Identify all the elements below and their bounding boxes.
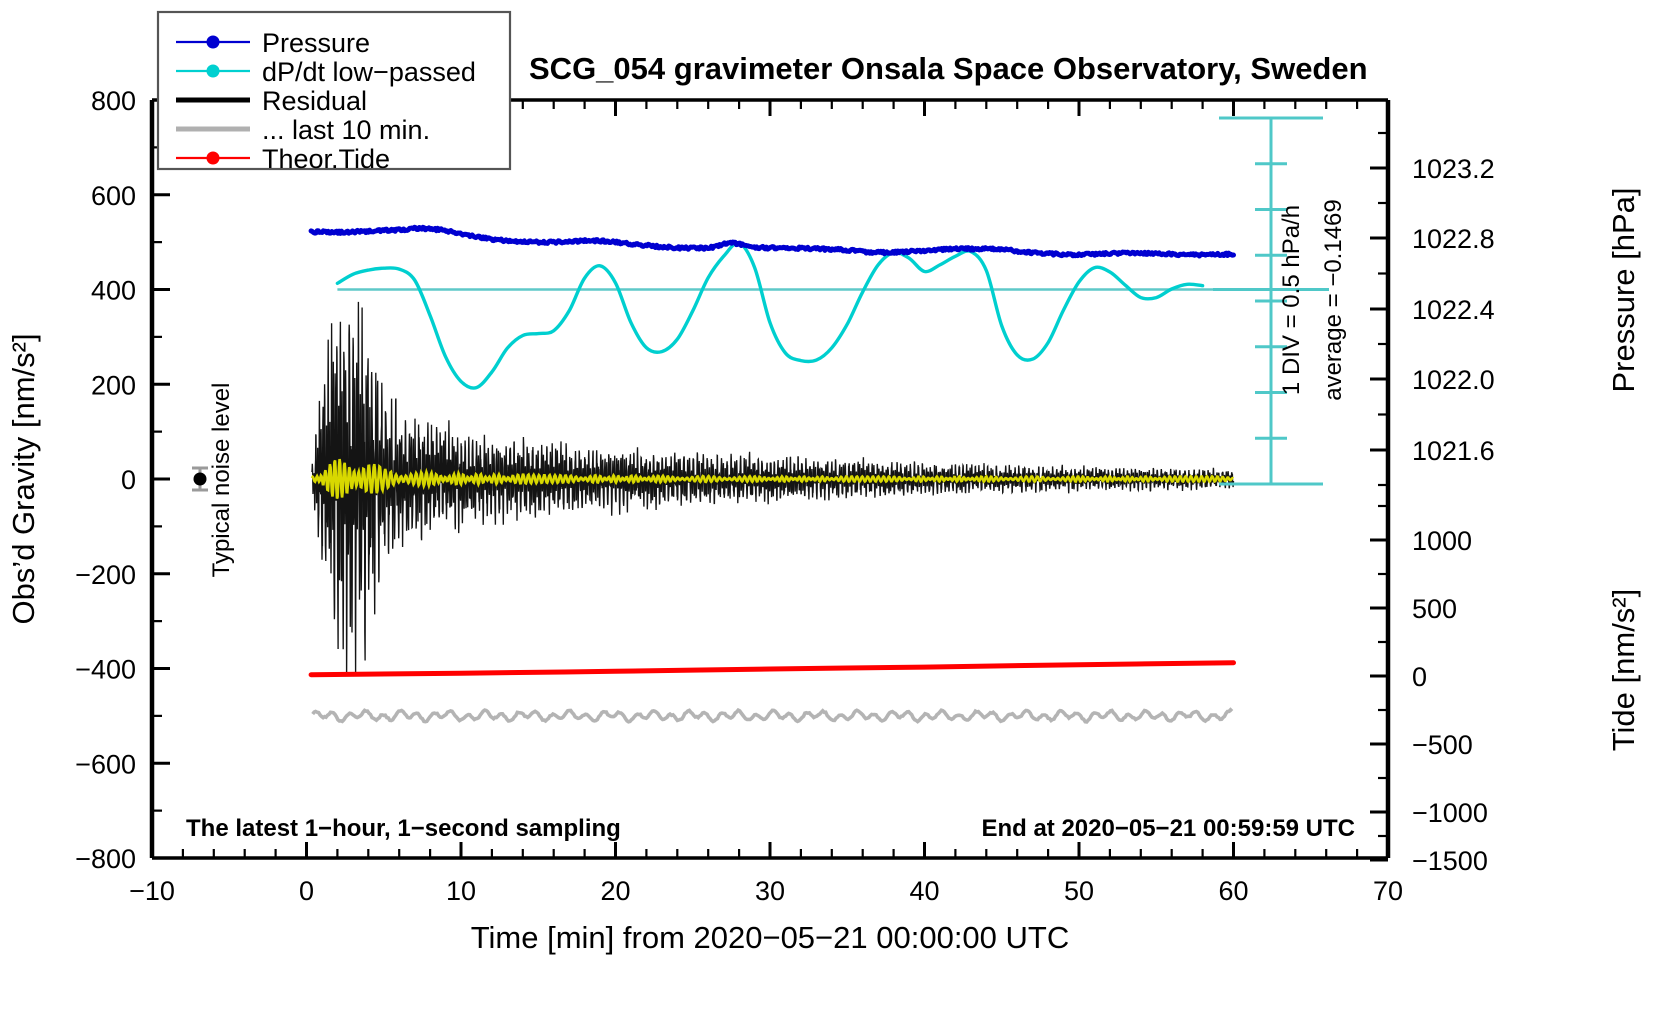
- y-right-tide-tick-label: −500: [1412, 730, 1473, 760]
- legend-label: Residual: [262, 86, 367, 116]
- noise-level-dot: [194, 473, 207, 486]
- x-axis-title: Time [min] from 2020−05−21 00:00:00 UTC: [471, 920, 1070, 955]
- legend-label: Pressure: [262, 28, 370, 58]
- y-right-pressure-tick-label: 1022.8: [1412, 224, 1495, 254]
- legend-label: dP/dt low−passed: [262, 57, 476, 87]
- legend-label: ... last 10 min.: [262, 115, 430, 145]
- legend-label: Theor.Tide: [262, 144, 390, 174]
- y-right-tide-tick-label: −1000: [1412, 798, 1488, 828]
- x-tick-label: −10: [129, 876, 175, 906]
- y-right-pressure-tick-label: 1022.4: [1412, 295, 1495, 325]
- typical-noise-level-label: Typical noise level: [208, 383, 235, 578]
- y-right-tide-tick-label: 0: [1412, 662, 1427, 692]
- y-axis-right-tide-title: Tide [nm/s²]: [1606, 589, 1641, 752]
- y-right-tide-tick-label: −1500: [1412, 846, 1488, 876]
- x-tick-label: 20: [600, 876, 630, 906]
- dpdt-scale-label: 1 DIV = 0.5 hPa/h: [1278, 205, 1305, 395]
- x-tick-label: 70: [1373, 876, 1403, 906]
- y-left-tick-label: 800: [91, 86, 136, 116]
- legend-marker: [207, 152, 220, 165]
- gravimeter-figure: −10010203040506070 8006004002000−200−400…: [0, 0, 1660, 1020]
- legend-marker: [207, 65, 220, 78]
- y-right-pressure-tick-label: 1022.0: [1412, 365, 1495, 395]
- y-right-tide-tick-label: 500: [1412, 594, 1457, 624]
- dpdt-average-label: average = −0.1469: [1320, 199, 1347, 401]
- legend-marker: [207, 36, 220, 49]
- y-left-tick-label: −200: [75, 560, 136, 590]
- x-tick-label: 50: [1064, 876, 1094, 906]
- bottom-right-note: End at 2020−05−21 00:59:59 UTC: [981, 815, 1355, 842]
- y-left-tick-label: 0: [121, 465, 136, 495]
- y-left-tick-label: −800: [75, 844, 136, 874]
- x-tick-label: 40: [909, 876, 939, 906]
- y-left-tick-label: 600: [91, 181, 136, 211]
- bottom-left-note: The latest 1−hour, 1−second sampling: [186, 815, 621, 842]
- y-right-tide-tick-label: 1000: [1412, 526, 1472, 556]
- y-left-tick-label: 400: [91, 276, 136, 306]
- y-axis-right-pressure-title: Pressure [hPa]: [1606, 187, 1641, 392]
- y-left-tick-label: 200: [91, 370, 136, 400]
- y-left-tick-label: −400: [75, 655, 136, 685]
- plot-canvas: −10010203040506070 8006004002000−200−400…: [0, 0, 1660, 1020]
- y-right-pressure-tick-label: 1021.6: [1412, 436, 1495, 466]
- x-tick-label: 10: [446, 876, 476, 906]
- x-tick-label: 30: [755, 876, 785, 906]
- chart-title: SCG_054 gravimeter Onsala Space Observat…: [529, 51, 1368, 86]
- x-tick-label: 0: [299, 876, 314, 906]
- y-right-pressure-tick-label: 1023.2: [1412, 154, 1495, 184]
- x-tick-label: 60: [1218, 876, 1248, 906]
- y-left-tick-label: −600: [75, 749, 136, 779]
- y-axis-left-title: Obs’d Gravity [nm/s²]: [6, 333, 41, 624]
- legend: PressuredP/dt low−passedResidual... last…: [158, 12, 510, 174]
